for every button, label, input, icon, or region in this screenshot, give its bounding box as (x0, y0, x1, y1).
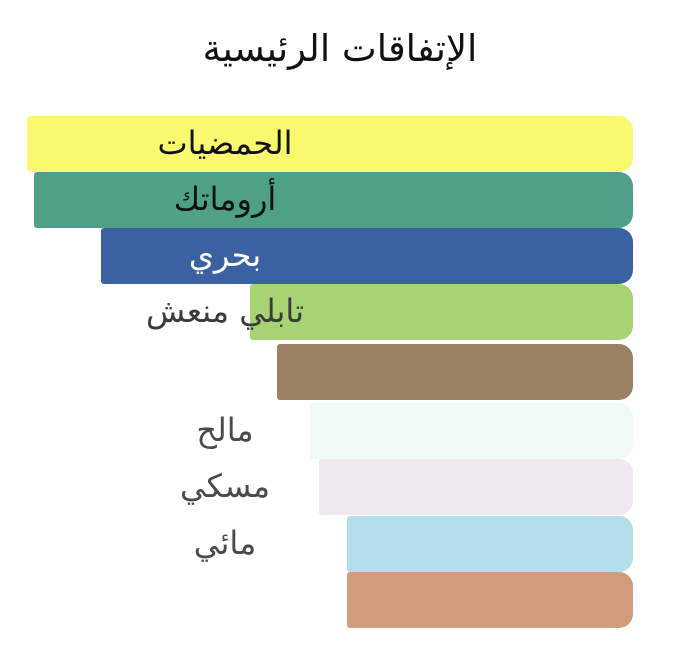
funnel-bar-label-text: مسكي (180, 470, 270, 502)
funnel-bar[interactable] (250, 284, 633, 340)
funnel-bar[interactable] (347, 516, 633, 572)
funnel-bar-label-text: خشبي (183, 355, 268, 387)
funnel-bar-label-text: العنبر (189, 583, 260, 615)
funnel-bar[interactable] (27, 116, 633, 172)
funnel-bar[interactable] (34, 172, 633, 228)
funnel-bar-label-text: مائي (194, 527, 256, 559)
funnel-bar[interactable] (310, 403, 633, 459)
funnel-bar[interactable] (277, 344, 633, 400)
funnel-bar-label-text: مالح (196, 414, 253, 446)
funnel-bar[interactable] (347, 572, 633, 628)
funnel-bars-container: الحمضياتأروماتكبحريتابلي منعشخشبيمالحمسك… (0, 0, 680, 657)
funnel-bar[interactable] (319, 459, 633, 515)
funnel-chart: الإتفاقات الرئيسية الحمضياتأروماتكبحريتا… (0, 0, 680, 657)
funnel-bar[interactable] (101, 228, 633, 284)
